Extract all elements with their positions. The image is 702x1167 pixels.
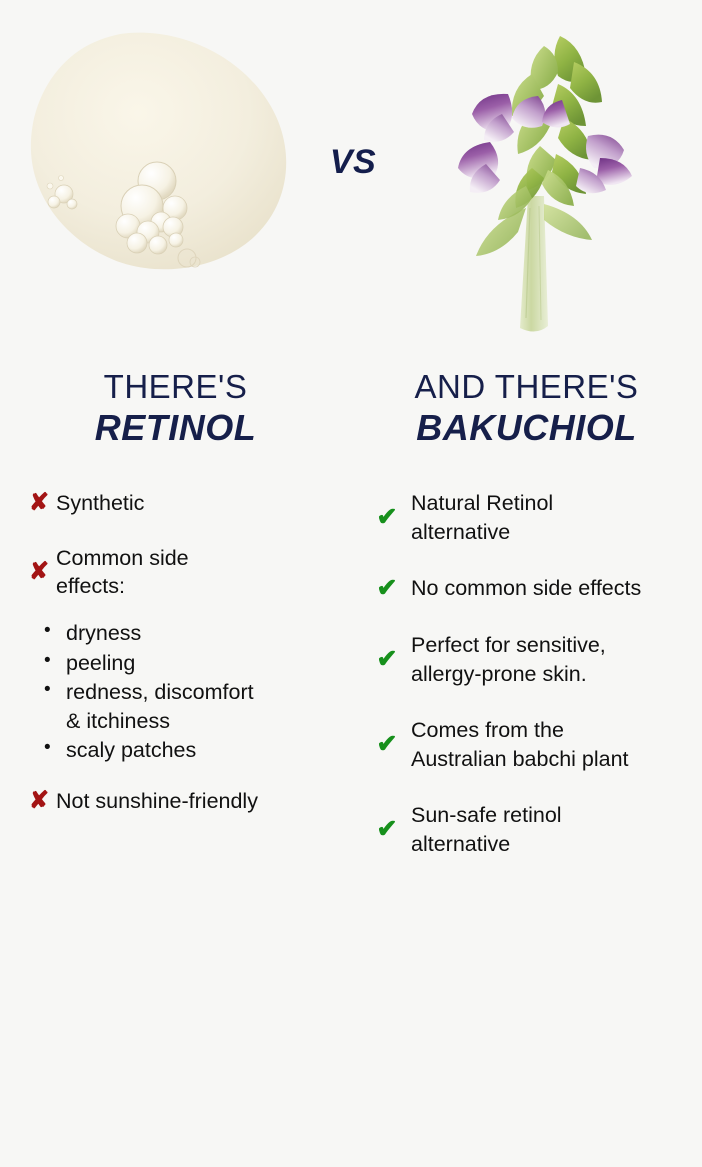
retinol-list: ✘ Synthetic ✘ Common side effects: dryne… xyxy=(0,489,351,815)
retinol-heading-big: RETINOL xyxy=(0,409,351,447)
retinol-heading: THERE'S RETINOL xyxy=(0,370,351,447)
column-bakuchiol: AND THERE'S BAKUCHIOL ✔ Natural Retinol … xyxy=(351,370,702,886)
check-mark-icon: ✔ xyxy=(363,817,411,842)
retinol-heading-small: THERE'S xyxy=(0,370,351,405)
serum-droplet-graphic xyxy=(24,26,300,282)
bakuchiol-list: ✔ Natural Retinol alternative ✔ No commo… xyxy=(351,489,702,858)
list-item-label: Comes from the Australian babchi plant xyxy=(411,716,643,773)
comparison-infographic: VS xyxy=(0,0,702,1167)
bullet-item: peeling xyxy=(40,649,265,678)
list-item: ✔ Perfect for sensitive, allergy-prone s… xyxy=(363,631,702,688)
list-item-label: Perfect for sensitive, allergy-prone ski… xyxy=(411,631,643,688)
bakuchiol-heading: AND THERE'S BAKUCHIOL xyxy=(351,370,702,447)
bullet-item: scaly patches xyxy=(40,736,265,765)
list-item-label: Not sunshine-friendly xyxy=(56,787,258,816)
bullet-item: dryness xyxy=(40,619,265,648)
list-item-label: No common side effects xyxy=(411,574,641,603)
list-item-label: Common side effects: xyxy=(56,544,261,601)
bakuchiol-heading-big: BAKUCHIOL xyxy=(351,409,702,447)
list-item: ✔ Comes from the Australian babchi plant xyxy=(363,716,702,773)
bullet-item: redness, discomfort & itchiness xyxy=(40,678,265,735)
list-item: ✘ Common side effects: xyxy=(0,544,351,601)
check-mark-icon: ✔ xyxy=(363,505,411,530)
list-item: ✔ Natural Retinol alternative xyxy=(363,489,702,546)
hero-section: VS xyxy=(0,0,702,360)
babchi-plant-graphic xyxy=(440,18,654,336)
check-mark-icon: ✔ xyxy=(363,576,411,601)
check-mark-icon: ✔ xyxy=(363,647,411,672)
babchi-plant-image xyxy=(440,18,654,336)
list-item-label: Natural Retinol alternative xyxy=(411,489,643,546)
cross-mark-icon: ✘ xyxy=(22,491,56,515)
list-item: ✘ Synthetic xyxy=(0,489,351,518)
list-item: ✘ Not sunshine-friendly xyxy=(0,787,351,816)
list-item-label: Synthetic xyxy=(56,489,144,518)
cross-mark-icon: ✘ xyxy=(22,560,56,584)
list-item: ✔ Sun-safe retinol alternative xyxy=(363,801,702,858)
vs-label: VS xyxy=(305,143,401,182)
serum-droplet-image xyxy=(24,26,300,282)
list-item-label: Sun-safe retinol alternative xyxy=(411,801,643,858)
side-effects-bullets: dryness peeling redness, discomfort & it… xyxy=(0,619,351,765)
check-mark-icon: ✔ xyxy=(363,732,411,757)
cross-mark-icon: ✘ xyxy=(22,789,56,813)
column-retinol: THERE'S RETINOL ✘ Synthetic ✘ Common sid… xyxy=(0,370,351,841)
bakuchiol-heading-small: AND THERE'S xyxy=(351,370,702,405)
list-item: ✔ No common side effects xyxy=(363,574,702,603)
